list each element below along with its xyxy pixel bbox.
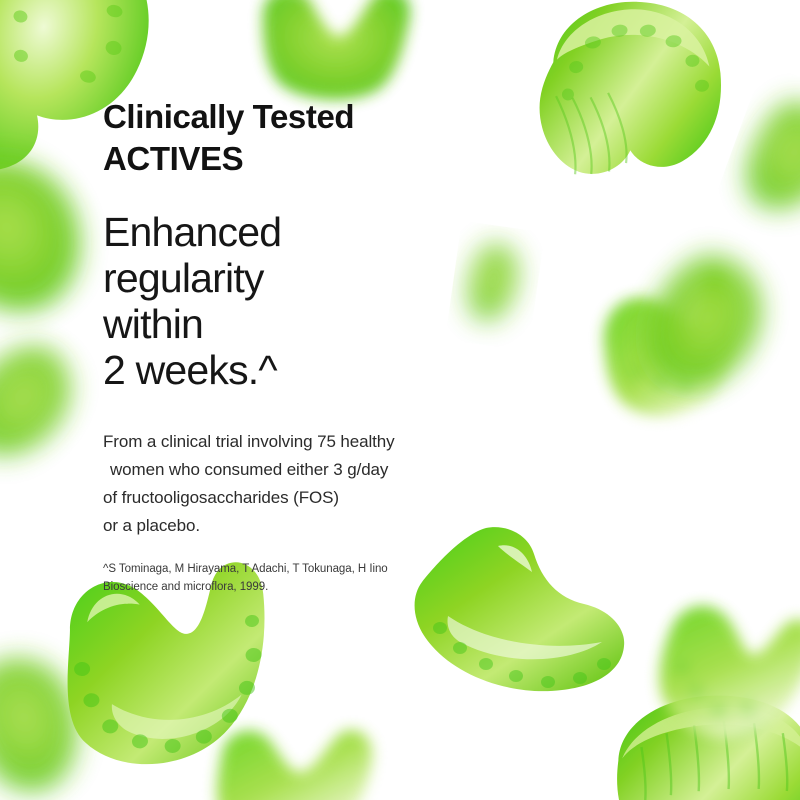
body-line-4: or a placebo. [103, 512, 523, 540]
gummy-piece-bottom-right [594, 678, 800, 800]
subheadline-line-4: 2 weeks.^ [103, 348, 523, 394]
headline-line-1: Clinically Tested [103, 98, 354, 135]
gummy-piece-top-right-edge [721, 80, 800, 249]
body-line-1: From a clinical trial involving 75 healt… [103, 428, 523, 456]
headline-line-2: ACTIVES [103, 138, 523, 180]
body-line-3: of fructooligosaccharides (FOS) [103, 484, 523, 512]
gummy-piece-top-right [497, 0, 762, 235]
gummy-piece-left-mid [0, 307, 117, 513]
citation-line-2: Bioscience and microflora, 1999. [103, 578, 523, 597]
body-paragraph: From a clinical trial involving 75 healt… [103, 394, 523, 540]
subheadline-line-1: Enhanced [103, 210, 523, 256]
sub-headline: Enhanced regularity within 2 weeks.^ [103, 180, 523, 394]
gummy-piece-left-lower [0, 620, 135, 800]
subheadline-line-2: regularity [103, 256, 523, 302]
citation-line-1: ^S Tominaga, M Hirayama, T Adachi, T Tok… [103, 560, 523, 579]
marketing-banner: Clinically Tested ACTIVES Enhanced regul… [0, 0, 800, 800]
text-content-block: Clinically Tested ACTIVES Enhanced regul… [103, 96, 523, 597]
citation-footnote: ^S Tominaga, M Hirayama, T Adachi, T Tok… [103, 540, 523, 597]
gummy-piece-right-lower [622, 575, 800, 779]
gummy-piece-bottom-center [196, 710, 395, 800]
subheadline-line-3: within [103, 302, 523, 348]
page-title: Clinically Tested ACTIVES [103, 96, 523, 180]
gummy-piece-right-edge-mid [606, 220, 800, 436]
gummy-piece-right-mid [567, 253, 765, 451]
body-line-2: women who consumed either 3 g/day [103, 456, 523, 484]
